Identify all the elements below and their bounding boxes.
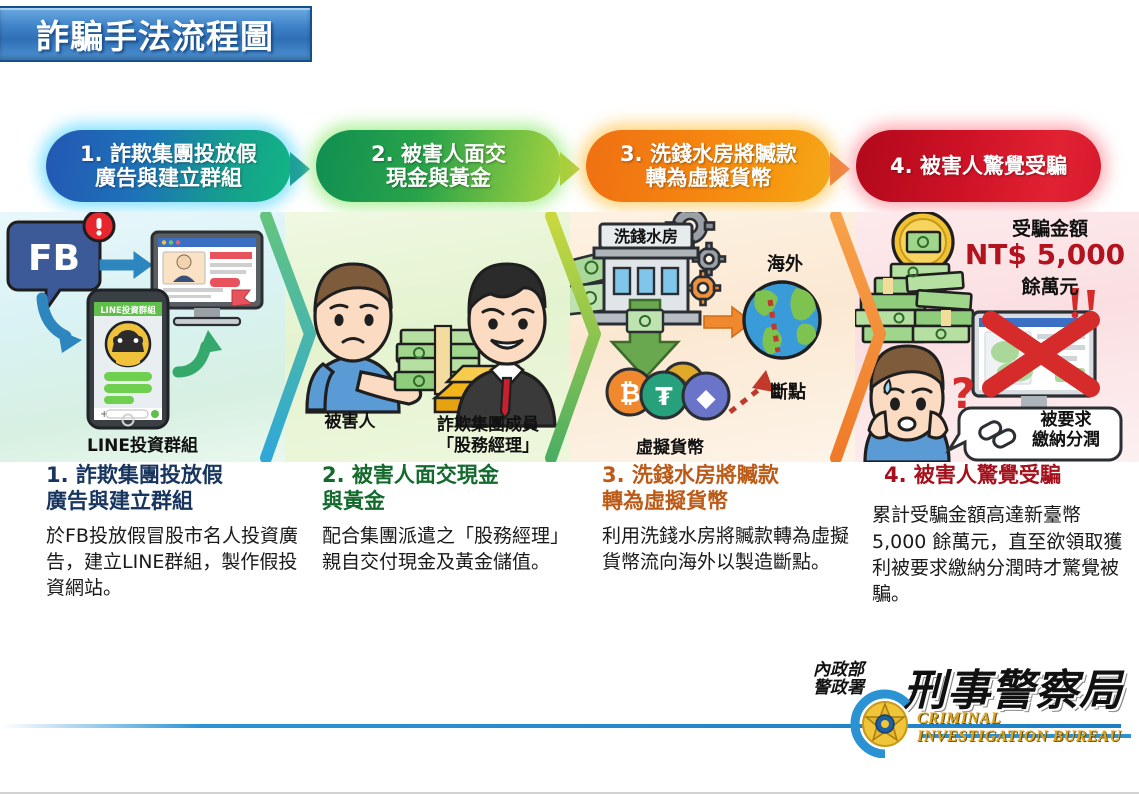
step-pill-2[interactable]: 2. 被害人面交 現金與黃金 xyxy=(316,130,561,202)
step-pill-4-label: 4. 被害人驚覺受騙 xyxy=(880,154,1077,178)
crypto-coins-icon: ₿ ◆ ₮ ◆ xyxy=(607,363,729,419)
profit-share-bubble-text: 被要求 繳納分潤 xyxy=(1013,410,1119,451)
description-heading-1: 1. 詐欺集團投放假 廣告與建立群組 xyxy=(46,462,308,515)
arrow-right-blue-icon xyxy=(100,252,152,278)
arrow-curve-up-green-icon xyxy=(178,330,222,372)
police-badge-icon xyxy=(839,680,931,758)
step-pill-1-label: 1. 詐欺集團投放假 廣告與建立群組 xyxy=(70,142,267,191)
svg-text:₮: ₮ xyxy=(655,382,673,411)
description-heading-3: 3. 洗錢水房將贓款 轉為虛擬貨幣 xyxy=(602,462,864,515)
break-point-label: 斷點 xyxy=(748,378,828,404)
description-column-3: 3. 洗錢水房將贓款 轉為虛擬貨幣 利用洗錢水房將贓款轉為虛擬貨幣流向海外以製造… xyxy=(602,462,864,575)
description-body-3: 利用洗錢水房將贓款轉為虛擬貨幣流向海外以製造斷點。 xyxy=(602,523,864,575)
illustration-panel-4: ? 受騙金額 NT$ 5,000 餘萬元 被要求 繳納分潤 xyxy=(855,212,1139,462)
svg-text:◆: ◆ xyxy=(696,383,716,412)
arrow-curve-down-icon xyxy=(42,298,82,353)
scammer-caption: 詐欺集團成員 「股務經理」 xyxy=(413,415,563,456)
svg-text:FB: FB xyxy=(28,238,80,279)
crypto-caption: 虛擬貨幣 xyxy=(610,433,730,458)
page-title-banner: 詐騙手法流程圖 xyxy=(0,6,312,62)
svg-text:₿: ₿ xyxy=(619,379,640,409)
scam-amount-value: NT$ 5,000 xyxy=(955,238,1135,271)
building-label: 洗錢水房 xyxy=(614,227,678,246)
scam-amount-caption: 受騙金額 xyxy=(965,214,1135,241)
step-banner-row: 1. 詐欺集團投放假 廣告與建立群組 2. 被害人面交 現金與黃金 3. 洗錢水… xyxy=(0,130,1139,212)
infographic-page: 詐騙手法流程圖 1. 詐欺集團投放假 廣告與建立群組 2. 被害人面交 現金與黃… xyxy=(0,0,1139,794)
chevron-right-icon-1 xyxy=(290,152,310,186)
phone-header-text: LINE投資群組 xyxy=(100,305,156,316)
illustration-panel-1: FB xyxy=(0,212,285,462)
alert-badge-icon xyxy=(84,212,114,241)
description-column-1: 1. 詐欺集團投放假 廣告與建立群組 於FB投放假冒股市名人投資廣告，建立LIN… xyxy=(46,462,308,602)
step-pill-3[interactable]: 3. 洗錢水房將贓款 轉為虛擬貨幣 xyxy=(586,130,831,202)
line-group-caption: LINE投資群組 xyxy=(0,431,285,456)
illustration-row: FB xyxy=(0,212,1139,462)
line-app-phone-icon: LINE投資群組 + xyxy=(88,290,168,428)
step-pill-1[interactable]: 1. 詐欺集團投放假 廣告與建立群組 xyxy=(46,130,291,202)
overseas-label: 海外 xyxy=(745,250,825,276)
agency-name-english: CRIMINAL INVESTIGATION BUREAU xyxy=(917,710,1131,746)
globe-overseas-icon xyxy=(744,282,820,358)
description-body-4: 累計受騙金額高達新臺幣5,000 餘萬元，直至欲領取獲利被要求繳納分潤時才驚覺被… xyxy=(872,502,1134,607)
illustration-panel-3: 洗錢水房 ₿ xyxy=(570,212,855,462)
description-column-2: 2. 被害人面交現金 與黃金 配合集團派遣之「股務經理」親自交付現金及黃金儲值。 xyxy=(322,462,584,575)
agency-logo: 內政部 警政署 刑事警察局 CRIMINAL INVESTIGATION BUR… xyxy=(791,660,1131,756)
victim-caption: 被害人 xyxy=(295,407,405,432)
step-pill-4[interactable]: 4. 被害人驚覺受騙 xyxy=(856,130,1101,202)
chevron-right-icon-3 xyxy=(830,152,850,186)
description-heading-2: 2. 被害人面交現金 與黃金 xyxy=(322,462,584,515)
page-title: 詐騙手法流程圖 xyxy=(36,10,274,58)
shocked-victim-icon xyxy=(865,346,949,462)
panel-1-artwork: FB xyxy=(0,212,285,462)
step-pill-2-label: 2. 被害人面交 現金與黃金 xyxy=(361,142,516,191)
description-body-2: 配合集團派遣之「股務經理」親自交付現金及黃金儲值。 xyxy=(322,523,584,575)
description-row: 1. 詐欺集團投放假 廣告與建立群組 於FB投放假冒股市名人投資廣告，建立LIN… xyxy=(0,462,1139,642)
step-pill-3-label: 3. 洗錢水房將贓款 轉為虛擬貨幣 xyxy=(610,142,807,191)
description-body-1: 於FB投放假冒股市名人投資廣告，建立LINE群組，製作假投資網站。 xyxy=(46,523,308,602)
scam-amount-unit: 餘萬元 xyxy=(965,272,1135,299)
money-pile-icon xyxy=(855,264,973,342)
agency-name-big: 刑事警察局 xyxy=(903,656,1123,718)
illustration-panel-2: 被害人 詐欺集團成員 「股務經理」 xyxy=(285,212,570,462)
description-heading-4: 4. 被害人驚覺受騙 xyxy=(884,462,1134,488)
blocked-website-monitor-icon xyxy=(973,312,1095,416)
chevron-right-icon-2 xyxy=(560,152,580,186)
description-column-4: 4. 被害人驚覺受騙 累計受騙金額高達新臺幣5,000 餘萬元，直至欲領取獲利被… xyxy=(872,462,1134,607)
